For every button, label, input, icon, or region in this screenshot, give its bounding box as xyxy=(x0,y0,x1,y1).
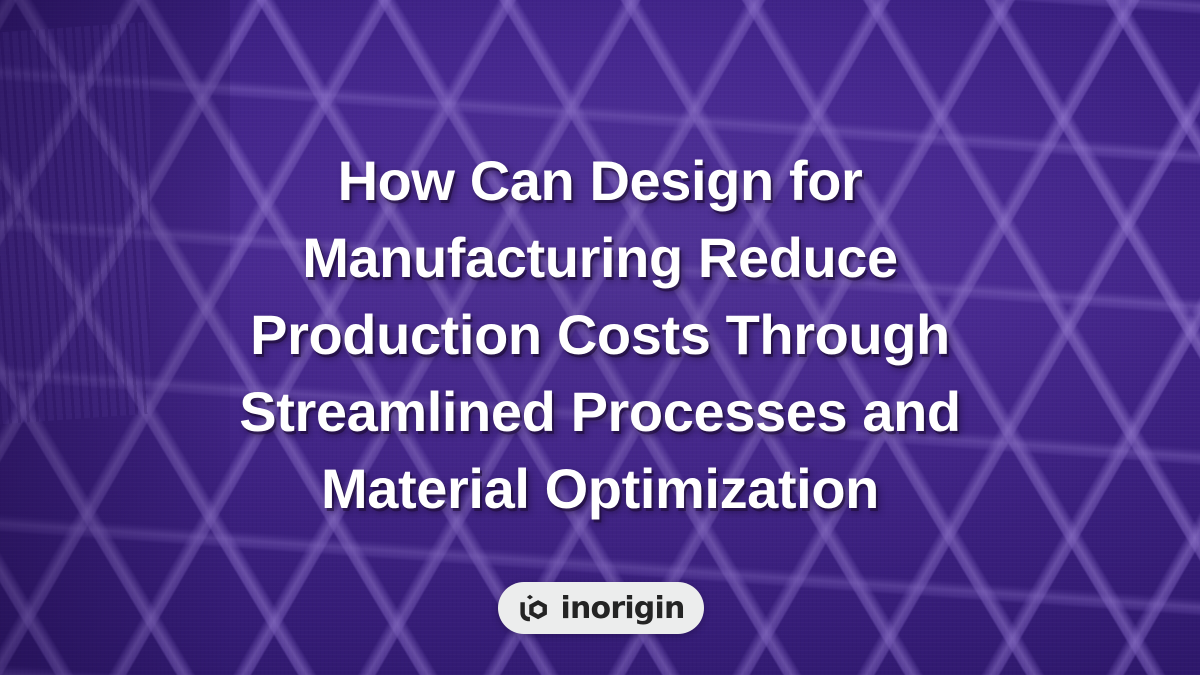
brand-logo-badge[interactable]: inorigin xyxy=(498,582,704,634)
article-banner: How Can Design for Manufacturing Reduce … xyxy=(0,0,1200,675)
page-title-line: Manufacturing Reduce xyxy=(30,219,1170,296)
page-title: How Can Design for Manufacturing Reduce … xyxy=(30,142,1170,527)
page-title-line: How Can Design for xyxy=(30,142,1170,219)
page-title-line: Streamlined Processes and xyxy=(30,373,1170,450)
banner-content: How Can Design for Manufacturing Reduce … xyxy=(0,0,1200,675)
page-title-line: Production Costs Through xyxy=(30,296,1170,373)
brand-wordmark: inorigin xyxy=(560,594,684,624)
cube-hexagon-logo-icon xyxy=(517,592,551,626)
page-title-line: Material Optimization xyxy=(30,450,1170,527)
